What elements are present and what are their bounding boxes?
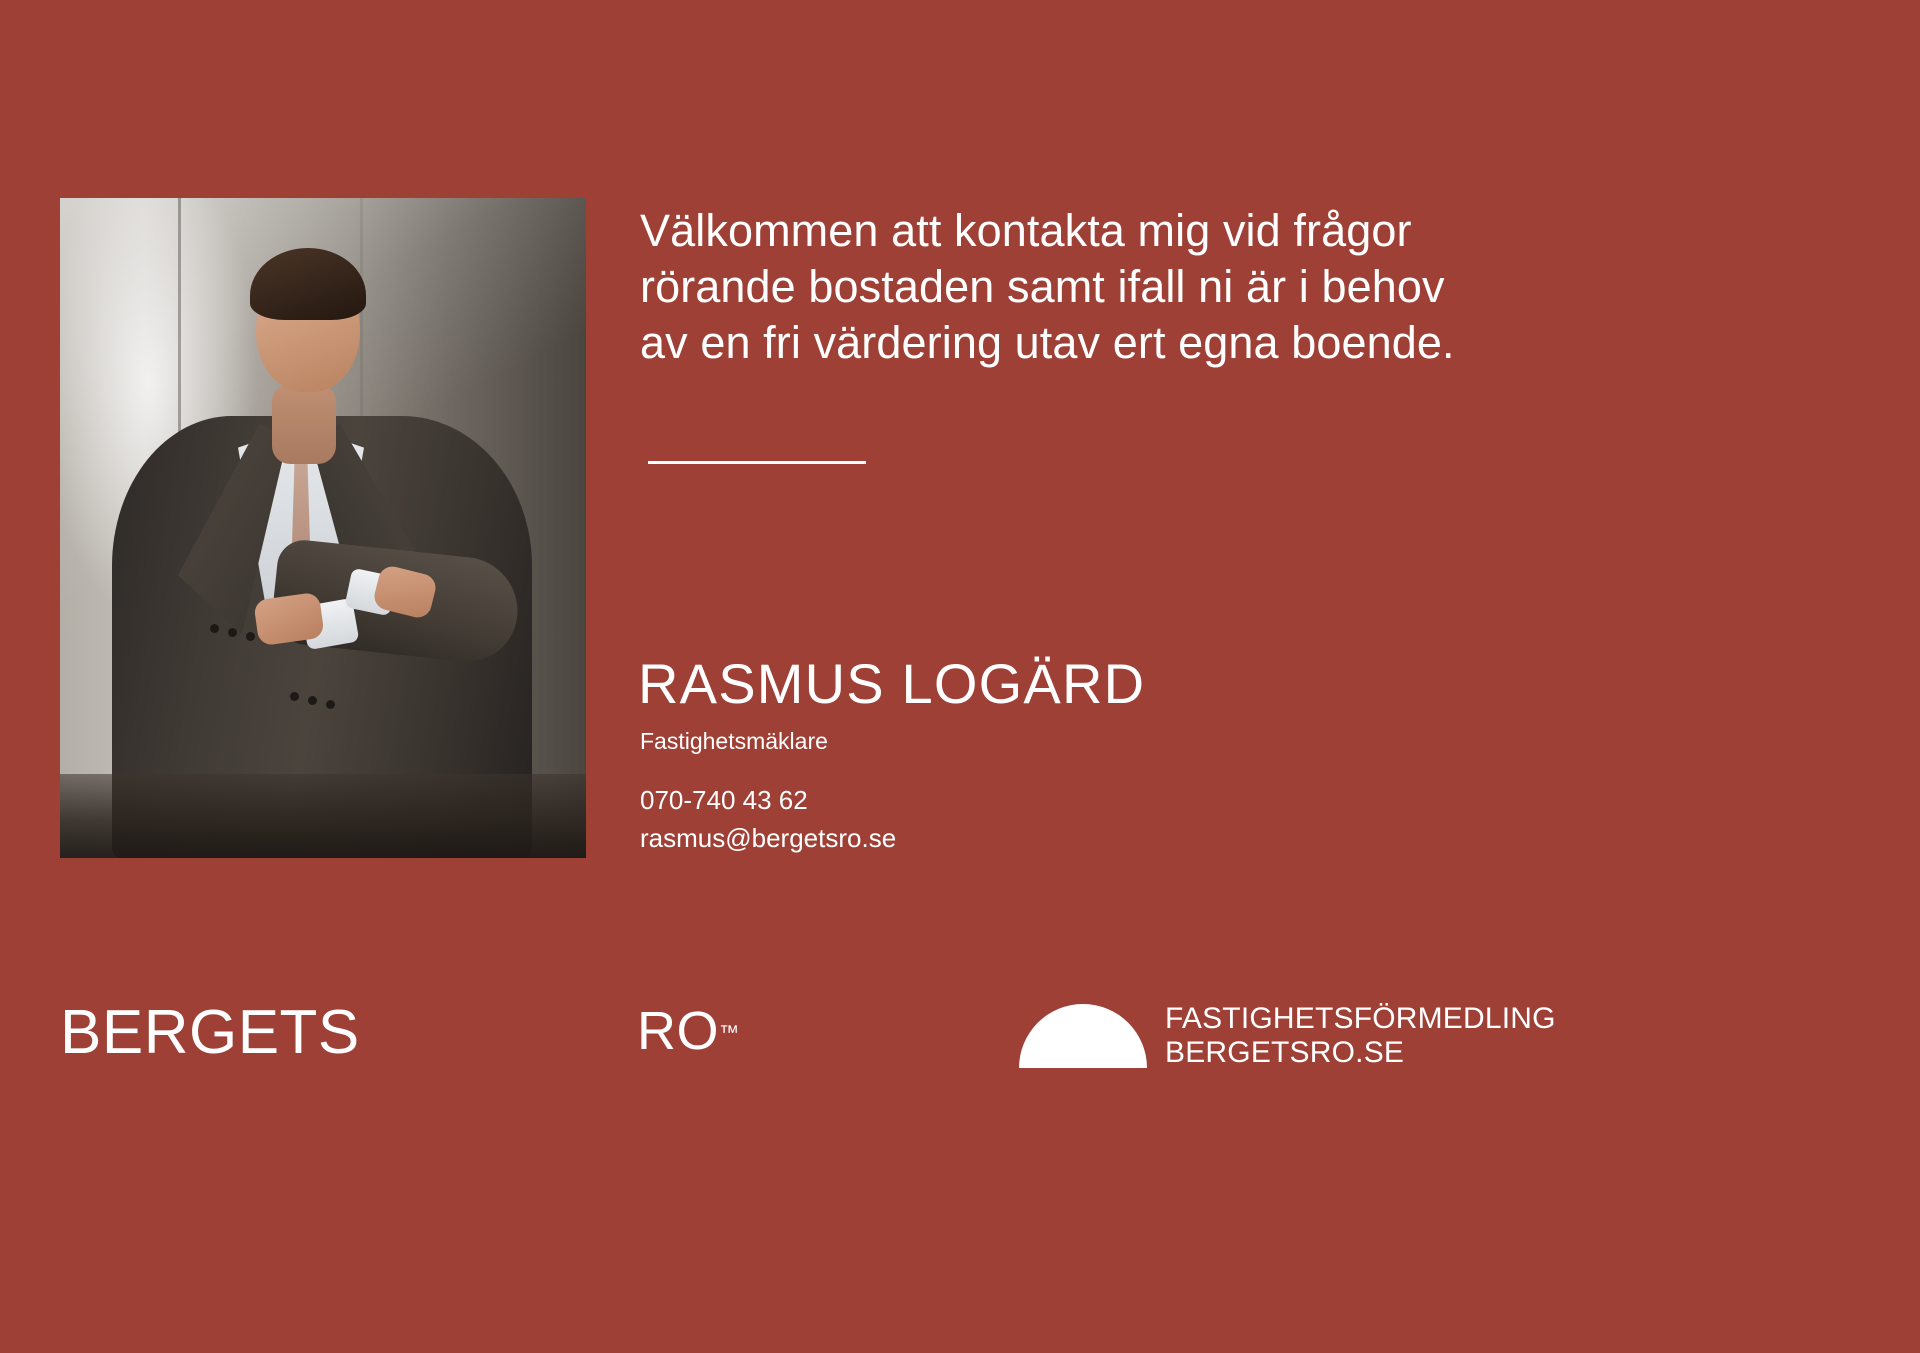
headline-text: Välkommen att kontakta mig vid frågor rö…: [640, 203, 1500, 371]
agent-phone[interactable]: 070-740 43 62: [640, 783, 808, 817]
headline-divider: [648, 461, 866, 464]
suit-button: [326, 700, 335, 709]
suit-button: [290, 692, 299, 701]
footer-agency-logo: FASTIGHETSFÖRMEDLING BERGETSRO.SE: [1019, 1000, 1556, 1068]
suit-button: [210, 624, 219, 633]
trademark-icon: ™: [719, 1022, 739, 1044]
portrait-photo: [60, 198, 586, 858]
portrait-figure: [60, 198, 586, 858]
figure-neck: [272, 384, 336, 464]
suit-button: [246, 632, 255, 641]
semicircle-icon: [1019, 1004, 1147, 1068]
agent-role: Fastighetsmäklare: [640, 726, 828, 756]
agent-portrait: [60, 198, 586, 858]
suit-button: [228, 628, 237, 637]
suit-button: [308, 696, 317, 705]
agent-email[interactable]: rasmus@bergetsro.se: [640, 821, 896, 855]
figure-hair: [250, 248, 366, 320]
contact-card: Välkommen att kontakta mig vid frågor rö…: [0, 0, 1920, 1353]
footer-brand-bergets: BERGETS: [60, 1000, 360, 1066]
footer-agency-line-1: FASTIGHETSFÖRMEDLING: [1165, 1002, 1556, 1036]
footer-agency-text: FASTIGHETSFÖRMEDLING BERGETSRO.SE: [1165, 1002, 1556, 1070]
figure-hand: [253, 592, 325, 647]
portrait-floor: [60, 774, 586, 858]
footer-brand-ro-word: RO: [637, 1001, 719, 1061]
footer-agency-line-2: BERGETSRO.SE: [1165, 1036, 1556, 1070]
footer-brand-ro: RO™: [637, 1002, 739, 1060]
agent-name: RASMUS LOGÄRD: [638, 653, 1145, 715]
